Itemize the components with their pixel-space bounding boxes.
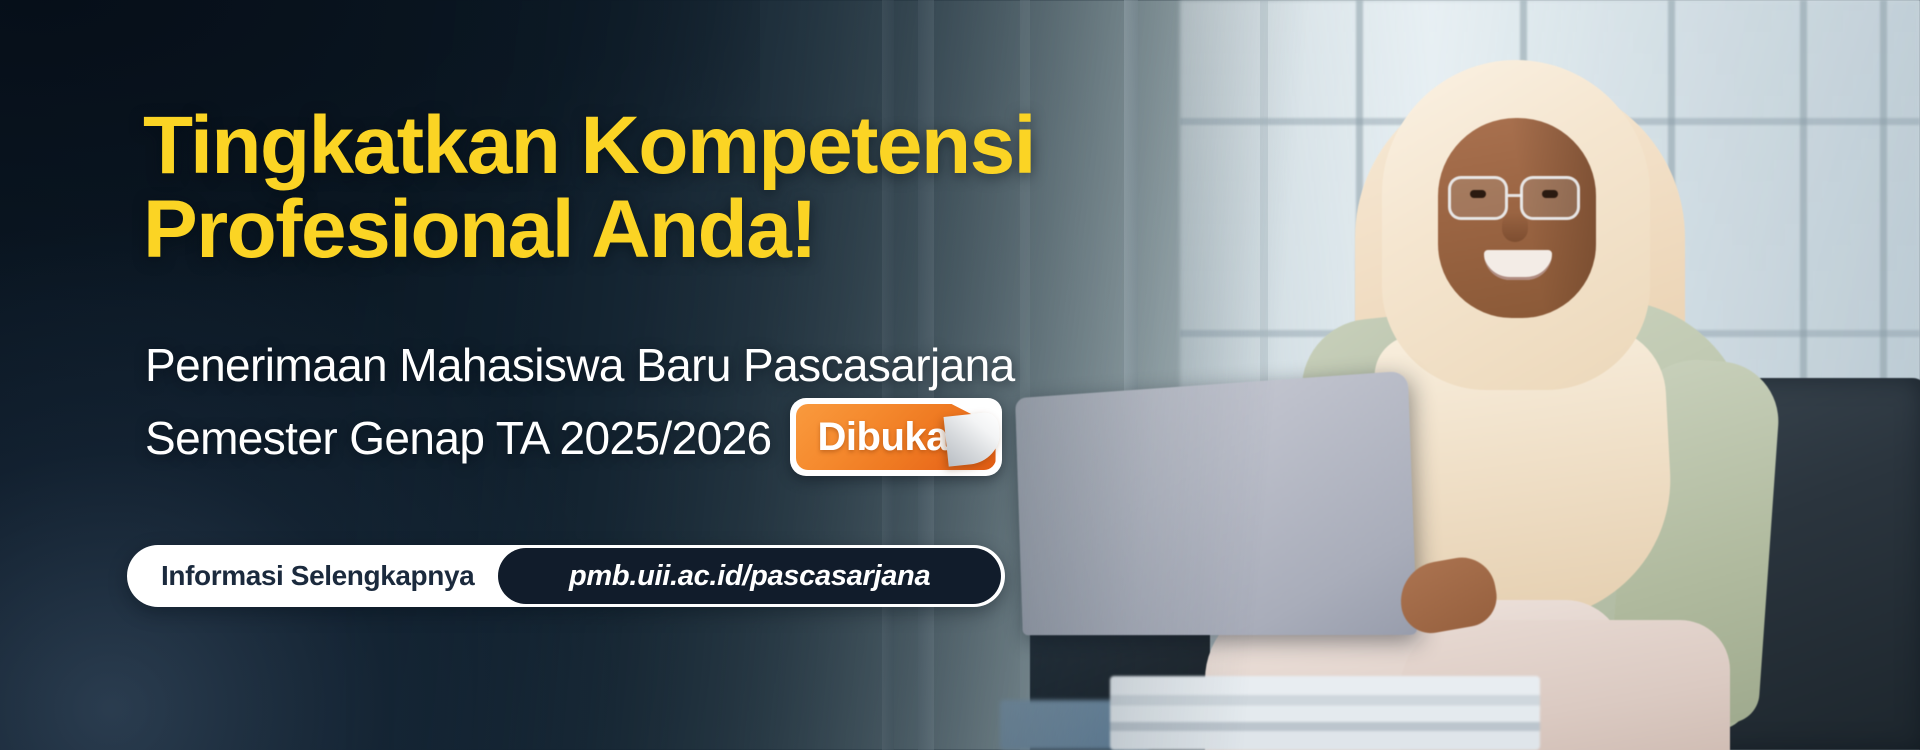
headline: Tingkatkan Kompetensi Profesional Anda! bbox=[143, 104, 1073, 272]
more-info-label: Informasi Selengkapnya bbox=[127, 560, 498, 592]
promo-banner: Tingkatkan Kompetensi Profesional Anda! … bbox=[0, 0, 1920, 750]
subheadline-line-1: Penerimaan Mahasiswa Baru Pascasarjana bbox=[145, 339, 1015, 391]
banner-content: Tingkatkan Kompetensi Profesional Anda! … bbox=[0, 0, 1100, 750]
sticker-label: Dibuka! bbox=[818, 415, 961, 460]
url-box[interactable]: pmb.uii.ac.id/pascasarjana bbox=[498, 548, 1001, 604]
headline-line-1: Tingkatkan Kompetensi bbox=[143, 100, 1035, 191]
subheadline-row-2: Semester Genap TA 2025/2026 Dibuka! bbox=[145, 400, 1002, 476]
more-info-cta[interactable]: Informasi Selengkapnya pmb.uii.ac.id/pas… bbox=[127, 545, 1005, 607]
dibuka-sticker: Dibuka! bbox=[790, 398, 1002, 476]
subheadline-line-2: Semester Genap TA 2025/2026 bbox=[145, 412, 772, 464]
headline-line-2: Profesional Anda! bbox=[143, 188, 1073, 272]
url-text: pmb.uii.ac.id/pascasarjana bbox=[569, 560, 930, 593]
